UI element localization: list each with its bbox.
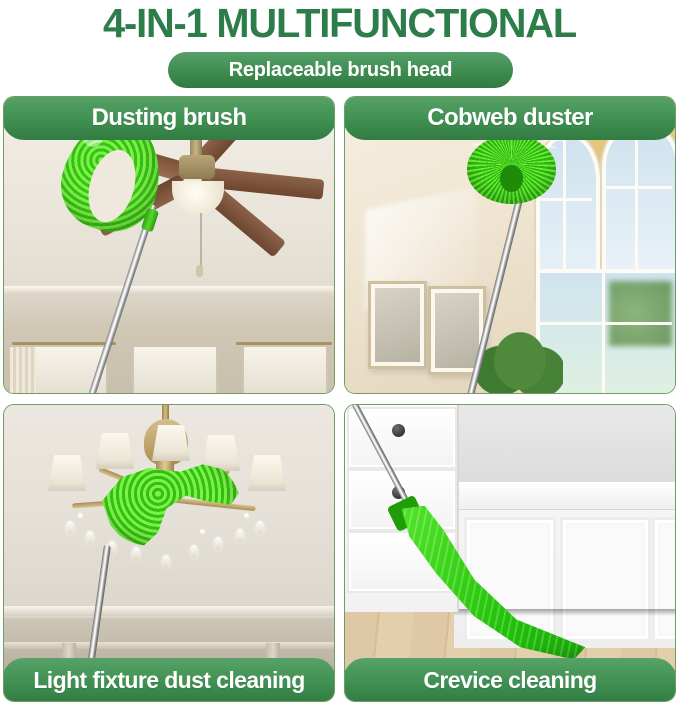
crystal-drop <box>66 521 74 535</box>
panel-crevice-cleaning: Crevice cleaning <box>344 404 676 702</box>
lamp-shade <box>248 455 286 491</box>
panel-label-text: Dusting brush <box>92 104 247 132</box>
crystal-drop <box>236 529 244 543</box>
curtain <box>10 347 36 393</box>
panel-label-text: Cobweb duster <box>427 104 593 132</box>
framed-artwork <box>375 288 420 363</box>
lamp-shade <box>48 455 86 491</box>
product-infographic: 4-IN-1 MULTIFUNCTIONAL Replaceable brush… <box>0 0 679 702</box>
scene-ceiling-fan <box>4 97 334 393</box>
window-mullion <box>602 186 671 189</box>
bed-rail <box>454 482 675 510</box>
scene-under-furniture <box>345 405 675 701</box>
arched-window <box>602 121 675 283</box>
window-pane <box>132 345 218 393</box>
fan-pull-knob <box>196 265 203 277</box>
bed-panel <box>652 517 675 641</box>
duster-connector <box>500 165 523 192</box>
panel-label-cobweb-duster: Cobweb duster <box>344 96 676 140</box>
drawer-knob <box>392 424 405 437</box>
crystal-drop <box>86 531 94 545</box>
fan-pull-chain <box>200 213 202 267</box>
feature-grid: Dusting brush <box>3 96 676 697</box>
bed-panel <box>560 517 652 641</box>
crystal-bead <box>200 529 205 534</box>
panel-light-fixture-dust-cleaning: Light fixture dust cleaning <box>3 404 335 702</box>
crystal-drop <box>162 555 170 569</box>
panel-label-text: Crevice cleaning <box>423 667 596 694</box>
crystal-drop <box>214 537 222 551</box>
wall-picture-frame <box>368 281 427 370</box>
lamp-shade <box>96 433 134 469</box>
window-mullion <box>635 121 638 269</box>
lamp-shade <box>152 425 190 461</box>
ceiling-cove <box>4 642 334 649</box>
curtain-rod <box>12 342 116 345</box>
fan-motor-housing <box>179 155 215 179</box>
window-mullion <box>602 269 605 393</box>
panel-label-dusting-brush: Dusting brush <box>3 96 335 140</box>
panel-dusting-brush: Dusting brush <box>3 96 335 394</box>
scene-high-ceiling-room <box>345 97 675 393</box>
page-title: 4-IN-1 MULTIFUNCTIONAL <box>10 0 669 48</box>
scene-chandelier <box>4 405 334 701</box>
window-mullion <box>536 198 592 201</box>
crystal-bead <box>78 513 83 518</box>
crystal-bead <box>244 513 249 518</box>
panel-cobweb-duster: Cobweb duster <box>344 96 676 394</box>
replaceable-brush-head-badge: Replaceable brush head <box>168 52 513 88</box>
panel-label-crevice-cleaning: Crevice cleaning <box>344 658 676 702</box>
mattress <box>454 405 675 484</box>
crystal-drop <box>190 545 198 559</box>
crystal-drop <box>256 521 264 535</box>
panel-label-light-fixture-dust-cleaning: Light fixture dust cleaning <box>3 658 335 702</box>
badge-label: Replaceable brush head <box>229 59 452 82</box>
panel-label-text: Light fixture dust cleaning <box>33 667 304 694</box>
framed-artwork <box>435 293 480 368</box>
crystal-drop <box>132 547 140 561</box>
outdoor-foliage <box>609 281 672 346</box>
ceiling-cove <box>4 606 334 616</box>
curtain-rod <box>236 342 332 345</box>
window-pane <box>242 345 328 393</box>
crown-molding <box>4 286 334 294</box>
